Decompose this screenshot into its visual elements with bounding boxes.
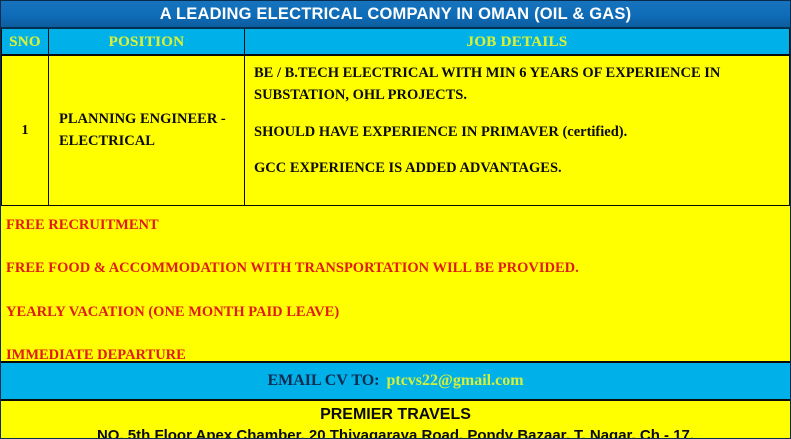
- email-address[interactable]: ptcvs22@gmail.com: [386, 372, 523, 390]
- jobs-table: SNO POSITION JOB DETAILS 1 PLANNING ENGI…: [1, 29, 790, 206]
- benefit-item: FREE FOOD & ACCOMMODATION WITH TRANSPORT…: [6, 260, 790, 277]
- job-advertisement-poster: A LEADING ELECTRICAL COMPANY IN OMAN (OI…: [0, 0, 791, 439]
- cell-position: PLANNING ENGINEER - ELECTRICAL: [49, 55, 245, 206]
- job-detail-line: GCC EXPERIENCE IS ADDED ADVANTAGES.: [254, 158, 783, 180]
- cell-job-details: BE / B.TECH ELECTRICAL WITH MIN 6 YEARS …: [245, 55, 790, 206]
- column-header-details: JOB DETAILS: [245, 29, 790, 55]
- job-detail-line: SHOULD HAVE EXPERIENCE IN PRIMAVER (cert…: [254, 122, 783, 144]
- email-contact-strip: EMAIL CV TO: ptcvs22@gmail.com: [1, 361, 790, 401]
- column-header-sno-label: SNO: [9, 34, 41, 50]
- poster-title: A LEADING ELECTRICAL COMPANY IN OMAN (OI…: [160, 5, 632, 24]
- footer-section: PREMIER TRAVELS NO. 5th Floor Apex Chamb…: [1, 401, 790, 439]
- job-detail-line: BE / B.TECH ELECTRICAL WITH MIN 6 YEARS …: [254, 63, 783, 107]
- column-header-details-label: JOB DETAILS: [467, 34, 568, 50]
- table-header-row: SNO POSITION JOB DETAILS: [2, 29, 790, 55]
- benefits-section: FREE RECRUITMENT FREE FOOD & ACCOMMODATI…: [1, 206, 790, 361]
- column-header-position-label: POSITION: [109, 34, 185, 50]
- footer-company-name: PREMIER TRAVELS: [1, 404, 790, 426]
- benefit-item: YEARLY VACATION (ONE MONTH PAID LEAVE): [6, 304, 790, 321]
- footer-address: NO. 5th Floor Apex Chamber, 20 Thiyagara…: [1, 426, 790, 439]
- table-row: 1 PLANNING ENGINEER - ELECTRICAL BE / B.…: [2, 55, 790, 206]
- column-header-sno: SNO: [2, 29, 49, 55]
- email-label: EMAIL CV TO:: [267, 372, 379, 390]
- benefit-item: FREE RECRUITMENT: [6, 217, 790, 234]
- poster-title-banner: A LEADING ELECTRICAL COMPANY IN OMAN (OI…: [1, 1, 790, 29]
- cell-sno: 1: [2, 55, 49, 206]
- column-header-position: POSITION: [49, 29, 245, 55]
